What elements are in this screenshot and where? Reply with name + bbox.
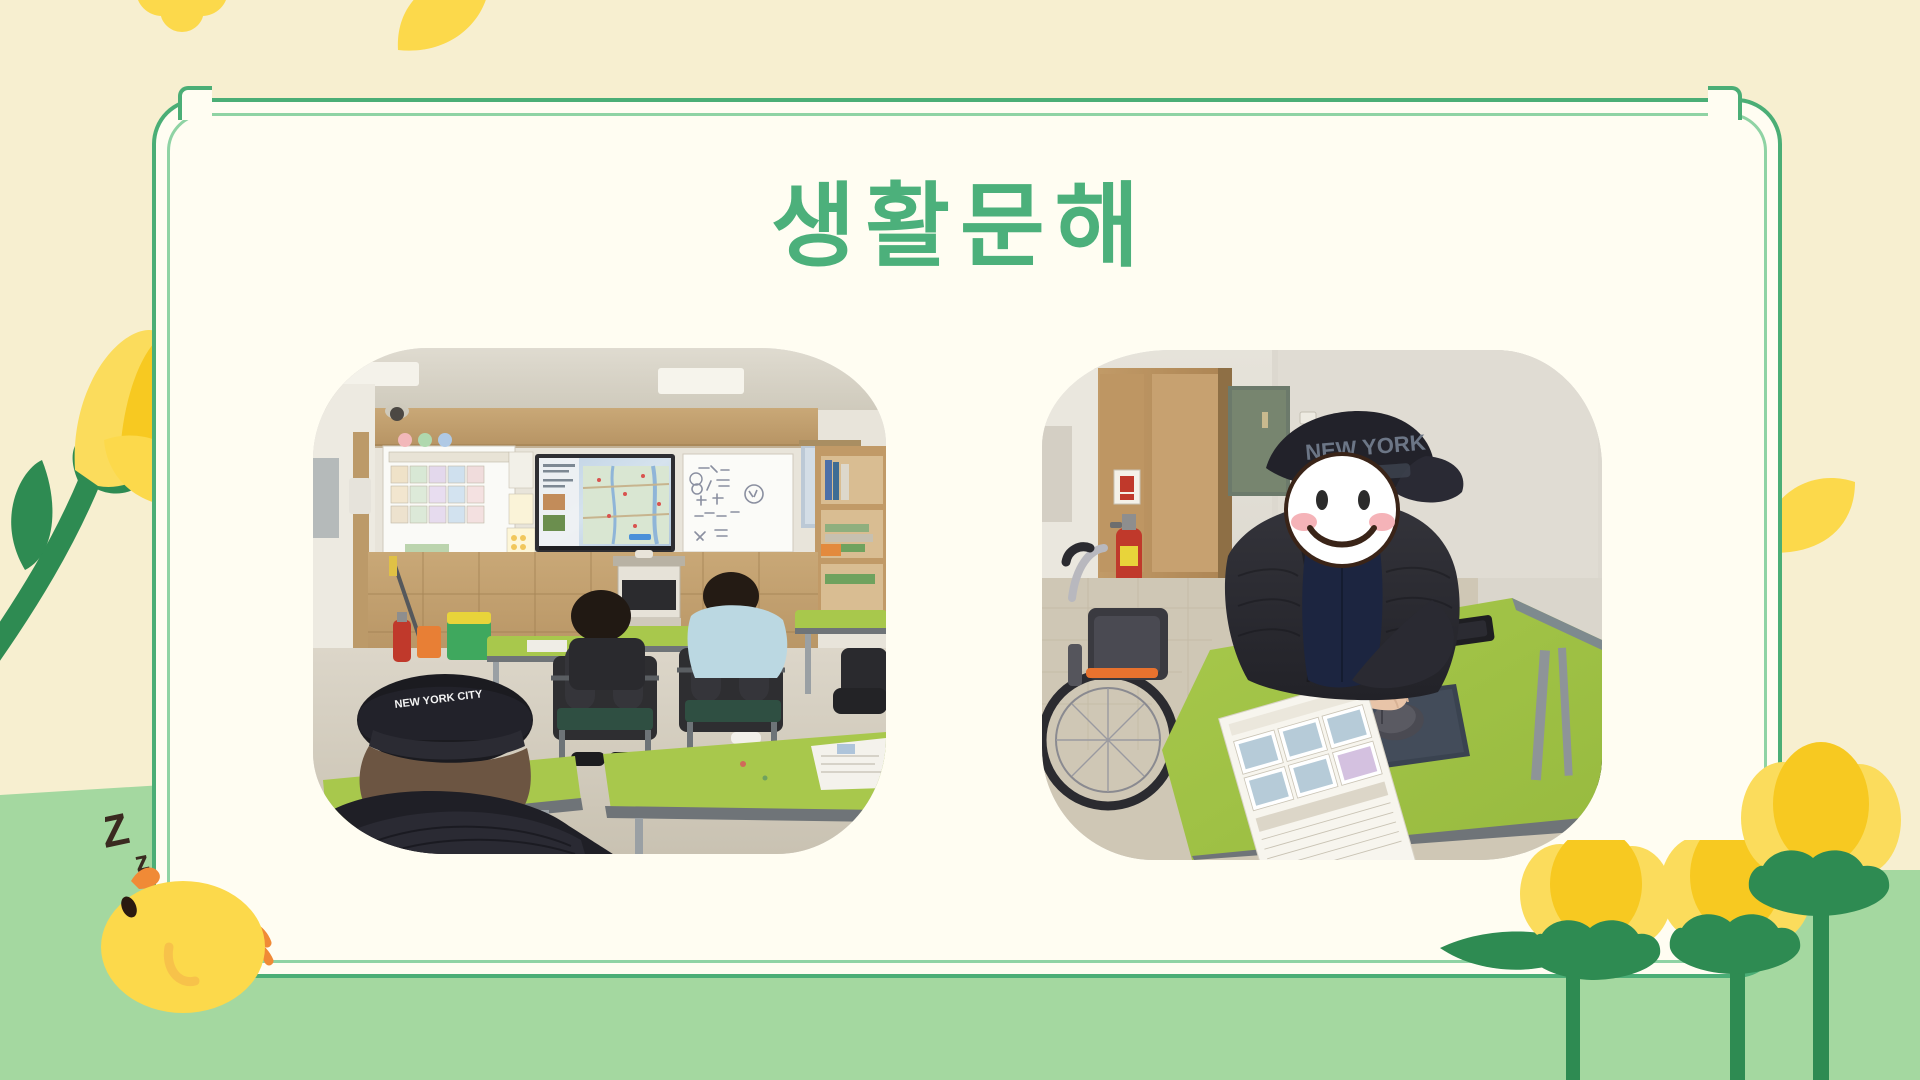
slide-root: 생활문해 xyxy=(0,0,1920,1080)
zz-text-large: Z xyxy=(105,810,133,858)
wheelchair-user-computer-photo: NEW YORK xyxy=(1042,350,1602,860)
cloud-shape-top xyxy=(130,0,240,52)
page-title: 생활문해 xyxy=(0,152,1920,285)
frame-notch-top-right xyxy=(1708,86,1742,120)
tulip-flower-bottom-right xyxy=(1735,700,1920,1080)
frame-notch-top-left xyxy=(178,86,212,120)
sleeping-chick xyxy=(95,855,315,1055)
petal-top xyxy=(390,0,500,60)
classroom-photo: NEW YORK CITY xyxy=(313,348,886,854)
